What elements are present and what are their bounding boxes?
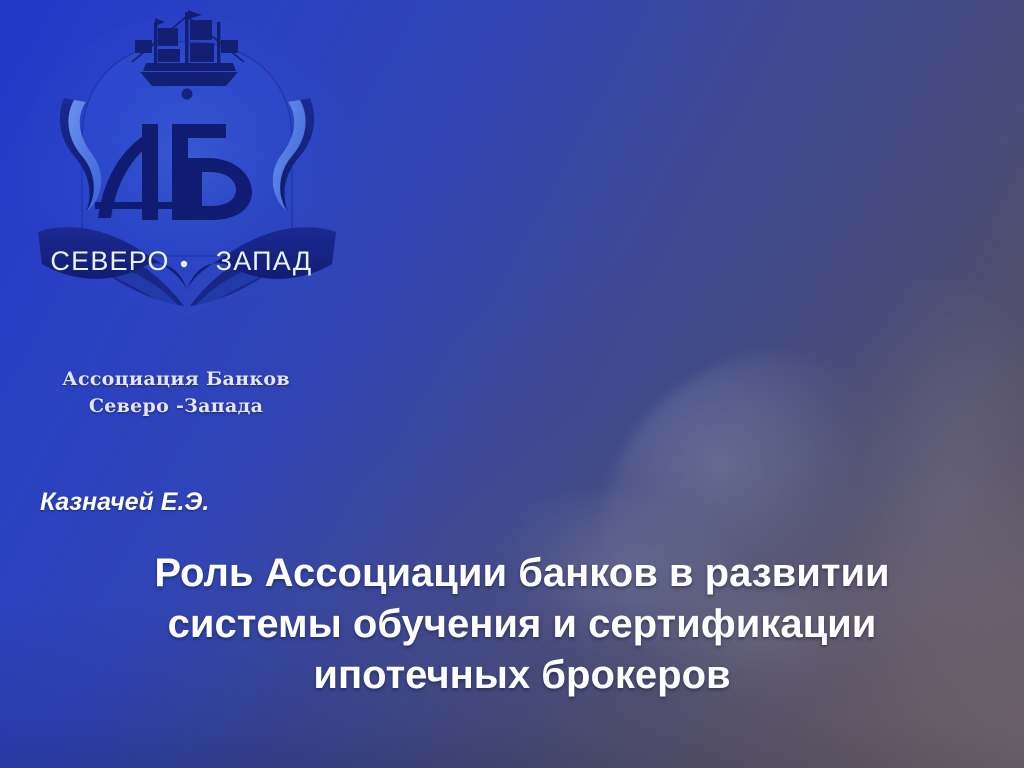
logo-ribbon-left-text: СЕВЕРО: [50, 246, 169, 276]
organization-name-line2: Северо -Запада: [26, 393, 326, 420]
slide-title-line3: ипотечных брокеров: [72, 650, 972, 701]
logo-ribbon-separator-dot: [181, 261, 187, 267]
logo-ribbon-right-text: ЗАПАД: [216, 246, 313, 276]
organization-name-line1: Ассоциация Банков: [26, 366, 326, 393]
presentation-slide: СЕВЕРО ЗАПАД Ассоциация Банков Северо -З…: [0, 0, 1024, 768]
association-logo: СЕВЕРО ЗАПАД: [12, 6, 362, 346]
slide-title: Роль Ассоциации банков в развитии систем…: [72, 548, 972, 701]
speaker-name: Казначей Е.Э.: [40, 487, 209, 517]
organization-name: Ассоциация Банков Северо -Запада: [26, 366, 326, 420]
slide-title-line1: Роль Ассоциации банков в развитии: [72, 548, 972, 599]
slide-title-line2: системы обучения и сертификации: [72, 599, 972, 650]
